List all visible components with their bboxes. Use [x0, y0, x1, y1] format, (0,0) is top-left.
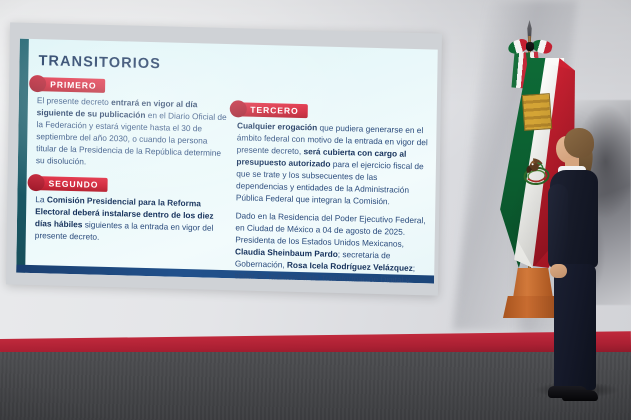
scene: TRANSITORIOS PRIMERO El presente decreto… — [0, 0, 631, 420]
bow-knot — [526, 42, 534, 51]
badge-tercero-label: TERCERO — [250, 105, 298, 116]
paragraph-primero: El presente decreto entrará en vigor al … — [36, 95, 229, 172]
person-arm — [548, 184, 568, 270]
presentation-slide: TRANSITORIOS PRIMERO El presente decreto… — [16, 39, 438, 284]
badge-segundo: SEGUNDO — [34, 176, 107, 193]
person-hands — [550, 264, 567, 278]
section-segundo: SEGUNDO La Comisión Presidencial para la… — [34, 173, 228, 247]
person-shoe-right — [562, 390, 598, 401]
section-primero: PRIMERO El presente decreto entrará en v… — [35, 74, 229, 172]
person-legs — [554, 264, 596, 390]
paragraph-signatories: Dado en la Residencia del Poder Ejecutiv… — [234, 210, 427, 283]
slide-column-right: TERCERO Cualquier erogación que pudiera … — [233, 79, 429, 283]
projection-screen: TRANSITORIOS PRIMERO El presente decreto… — [6, 22, 442, 295]
bow-loop-right — [531, 37, 554, 55]
paragraph-segundo: La Comisión Presidencial para la Reforma… — [35, 194, 227, 247]
badge-primero: PRIMERO — [36, 77, 106, 94]
standing-official — [540, 128, 614, 408]
badge-primero-label: PRIMERO — [50, 79, 97, 90]
slide-columns: PRIMERO El presente decreto entrará en v… — [33, 74, 430, 283]
paragraph-tercero: Cualquier erogación que pudiera generars… — [236, 121, 429, 210]
person-hair — [564, 128, 594, 158]
badge-tercero: TERCERO — [236, 102, 308, 119]
section-tercero: TERCERO Cualquier erogación que pudiera … — [233, 99, 429, 283]
flag-ribbon-bow — [508, 38, 552, 60]
flag-gold-ornament — [522, 93, 552, 131]
badge-segundo-label: SEGUNDO — [49, 178, 99, 189]
slide-column-left: PRIMERO El presente decreto entrará en v… — [33, 74, 229, 283]
slide-content: TRANSITORIOS PRIMERO El presente decreto… — [33, 49, 429, 271]
